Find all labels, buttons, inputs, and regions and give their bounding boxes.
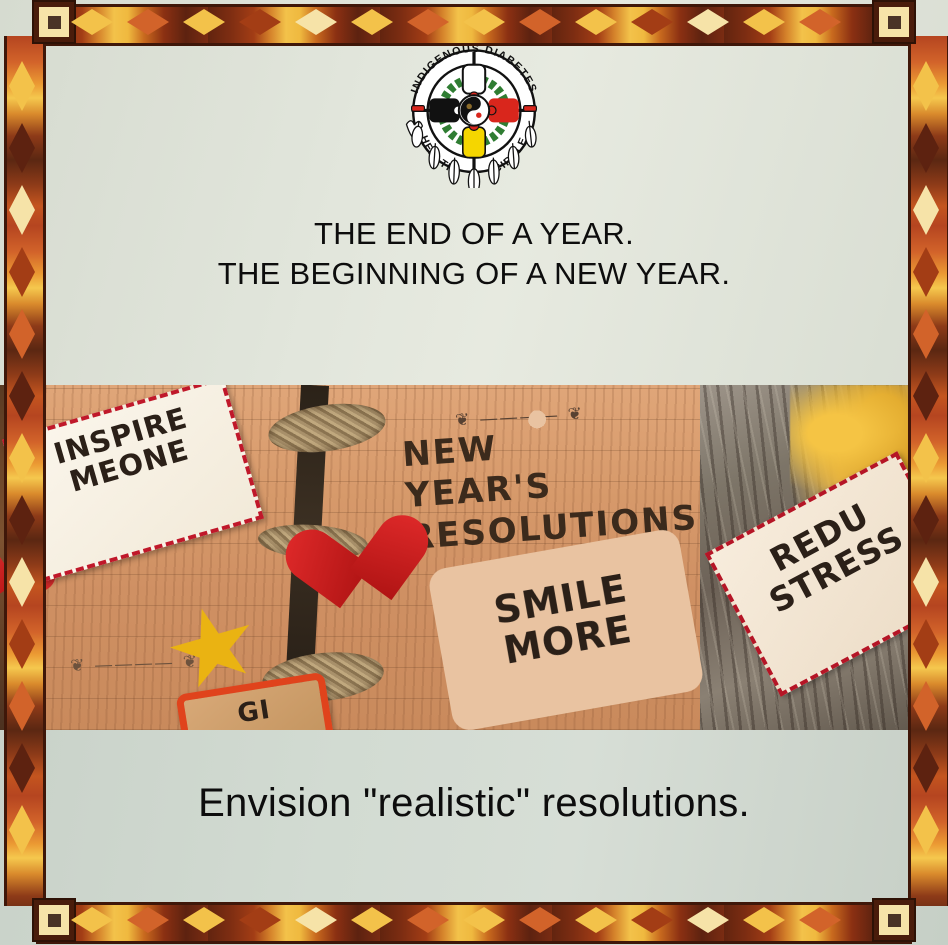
headline-line-2: THE BEGINNING OF A NEW YEAR. <box>0 254 948 294</box>
footer-message: Envision "realistic" resolutions. <box>0 781 948 826</box>
organization-logo: INDIGENOUS DIABETES HEALTH CIRCLE <box>394 28 554 188</box>
tag-glitter-text: GI <box>185 688 324 730</box>
headline: THE END OF A YEAR. THE BEGINNING OF A NE… <box>0 214 948 295</box>
headline-line-1: THE END OF A YEAR. <box>0 214 948 254</box>
red-felt-heart <box>306 518 410 617</box>
tag-smile-more: SMILE MORE <box>435 535 697 724</box>
bottom-background-panel <box>0 729 948 945</box>
poster-canvas: ❦ ———— ❦ NEW YEAR'S RESOLUTIONS ❦ ———— ❦… <box>0 0 948 945</box>
resolutions-photo: ❦ ———— ❦ NEW YEAR'S RESOLUTIONS ❦ ———— ❦… <box>0 385 948 730</box>
